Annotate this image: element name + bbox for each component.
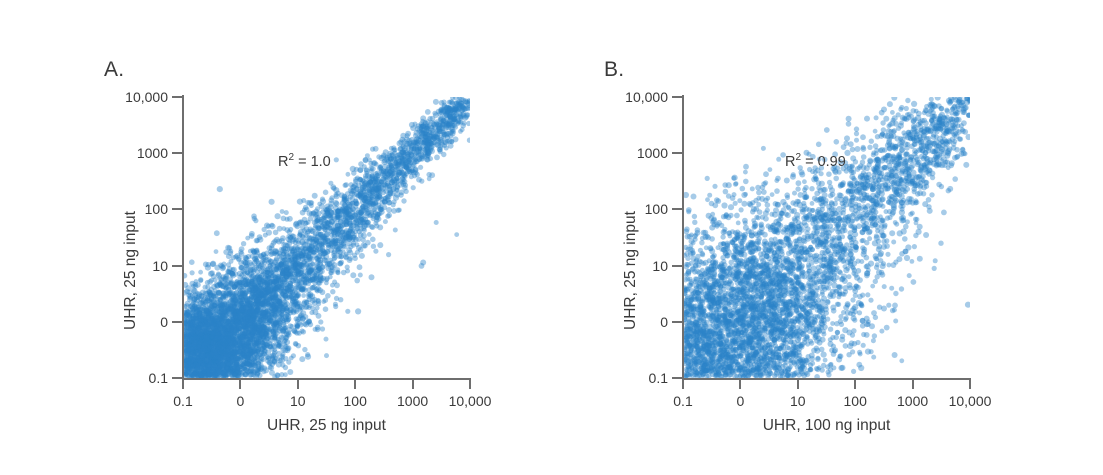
y-tick-label: 10 <box>152 258 168 274</box>
x-tick-mark <box>469 379 471 389</box>
y-tick-mark <box>672 321 683 323</box>
x-tick-mark <box>854 379 856 389</box>
y-tick-label: 0 <box>660 314 668 330</box>
y-tick-mark <box>172 265 183 267</box>
y-tick-mark <box>672 265 683 267</box>
panel-a-r2-exponent: 2 <box>288 152 294 163</box>
panel-a-plot-area <box>183 97 470 378</box>
y-tick-label: 1000 <box>637 145 668 161</box>
x-tick-label: 0.1 <box>173 393 192 409</box>
x-tick-label: 1000 <box>897 393 928 409</box>
x-tick-mark <box>354 379 356 389</box>
y-tick-mark <box>672 152 683 154</box>
x-tick-label: 10,000 <box>449 393 492 409</box>
y-tick-label: 1000 <box>137 145 168 161</box>
y-tick-label: 100 <box>145 201 168 217</box>
panel-a-x-axis-title: UHR, 25 ng input <box>183 417 470 435</box>
x-tick-label: 10 <box>290 393 306 409</box>
panel-b-scatter-points <box>683 97 970 378</box>
y-tick-label: 100 <box>645 201 668 217</box>
x-tick-mark <box>969 379 971 389</box>
y-tick-label: 0.1 <box>649 370 668 386</box>
y-tick-mark <box>172 96 183 98</box>
panel-a-r2-prefix: R <box>278 154 288 170</box>
x-tick-mark <box>682 379 684 389</box>
x-tick-mark <box>797 379 799 389</box>
panel-b-x-axis-title: UHR, 100 ng input <box>683 417 970 435</box>
panel-b-r2-annotation: R2 = 0.99 <box>785 152 846 170</box>
x-tick-mark <box>182 379 184 389</box>
panel-b-r2-prefix: R <box>785 154 795 170</box>
y-tick-label: 10,000 <box>125 89 168 105</box>
y-tick-mark <box>172 152 183 154</box>
y-tick-mark <box>672 208 683 210</box>
figure-two-panel-scatter: A. 10,00010001001000.10.1010100100010,00… <box>0 0 1103 475</box>
panel-a-r2-value: = 1.0 <box>298 154 331 170</box>
panel-b: B. 10,00010001001000.10.1010100100010,00… <box>500 0 1103 475</box>
panel-b-y-axis-title: UHR, 25 ng input <box>622 211 640 330</box>
panel-b-r2-value: = 0.99 <box>805 154 846 170</box>
y-tick-mark <box>172 208 183 210</box>
panel-a-x-axis-spine <box>182 378 471 380</box>
x-tick-label: 0 <box>736 393 744 409</box>
x-tick-mark <box>297 379 299 389</box>
x-tick-mark <box>912 379 914 389</box>
panel-b-x-axis-spine <box>682 378 971 380</box>
y-tick-label: 10,000 <box>625 89 668 105</box>
x-tick-label: 10 <box>790 393 806 409</box>
panel-a-letter: A. <box>104 58 124 82</box>
y-tick-mark <box>672 96 683 98</box>
x-tick-mark <box>412 379 414 389</box>
x-tick-label: 1000 <box>397 393 428 409</box>
panel-a-y-axis-title: UHR, 25 ng input <box>122 211 140 330</box>
panel-b-y-axis-spine <box>682 95 684 380</box>
panel-a-y-axis-spine <box>182 95 184 380</box>
panel-b-r2-exponent: 2 <box>795 152 801 163</box>
x-tick-mark <box>239 379 241 389</box>
x-tick-label: 100 <box>844 393 867 409</box>
x-tick-label: 100 <box>344 393 367 409</box>
x-tick-mark <box>739 379 741 389</box>
x-tick-label: 0.1 <box>673 393 692 409</box>
panel-a: A. 10,00010001001000.10.1010100100010,00… <box>0 0 551 475</box>
x-tick-label: 0 <box>236 393 244 409</box>
x-tick-label: 10,000 <box>949 393 992 409</box>
panel-b-plot-area <box>683 97 970 378</box>
panel-b-letter: B. <box>604 58 624 82</box>
panel-a-r2-annotation: R2 = 1.0 <box>278 152 331 170</box>
y-tick-label: 0.1 <box>149 370 168 386</box>
panel-a-scatter-points <box>183 97 470 378</box>
y-tick-mark <box>172 321 183 323</box>
y-tick-label: 0 <box>160 314 168 330</box>
y-tick-label: 10 <box>652 258 668 274</box>
